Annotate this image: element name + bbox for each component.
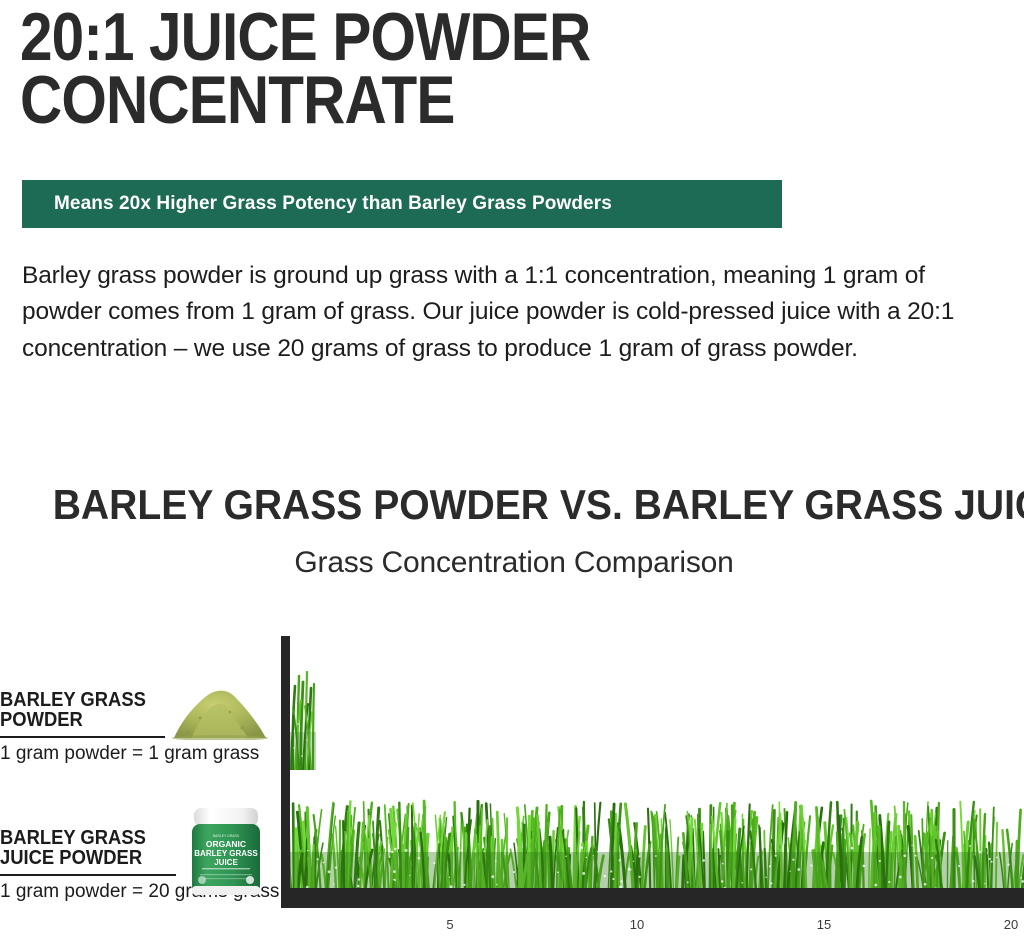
legend-divider — [0, 874, 176, 877]
organic-barley-grass-juice-jar-icon: ORGANIC BARLEY GRASS JUICE BARLEY GRASS — [186, 806, 266, 898]
highlight-banner: Means 20x Higher Grass Potency than Barl… — [22, 180, 782, 228]
svg-text:ORGANIC: ORGANIC — [206, 839, 246, 849]
svg-text:BARLEY GRASS: BARLEY GRASS — [213, 834, 240, 838]
chart-x-axis — [281, 895, 1024, 908]
x-tick-label-5: 5 — [446, 917, 453, 932]
infographic-page: 20:1 Juice Powder Concentrate Means 20x … — [0, 0, 1024, 936]
highlight-banner-text: Means 20x Higher Grass Potency than Barl… — [22, 193, 612, 215]
svg-text:BARLEY GRASS: BARLEY GRASS — [194, 849, 258, 858]
bar-barley-grass-juice-powder — [290, 794, 1024, 895]
body-paragraph: Barley grass powder is ground up grass w… — [22, 258, 1007, 367]
bar-barley-grass-powder — [290, 670, 316, 770]
barley-grass-powder-pile-icon — [170, 682, 270, 740]
chart-title: Barley Grass Powder vs. Barley Grass Jui… — [53, 484, 976, 526]
svg-text:JUICE: JUICE — [214, 858, 238, 867]
page-title: 20:1 Juice Powder Concentrate — [20, 6, 674, 132]
x-tick-label-20: 20 — [1004, 917, 1018, 932]
x-tick-label-10: 10 — [630, 917, 644, 932]
x-tick-label-15: 15 — [817, 917, 831, 932]
legend-item-equation: 1 gram powder = 1 gram grass — [0, 743, 259, 765]
chart-y-axis — [281, 636, 290, 908]
legend-divider — [0, 736, 165, 739]
chart-subtitle: Grass Concentration Comparison — [18, 546, 1010, 580]
